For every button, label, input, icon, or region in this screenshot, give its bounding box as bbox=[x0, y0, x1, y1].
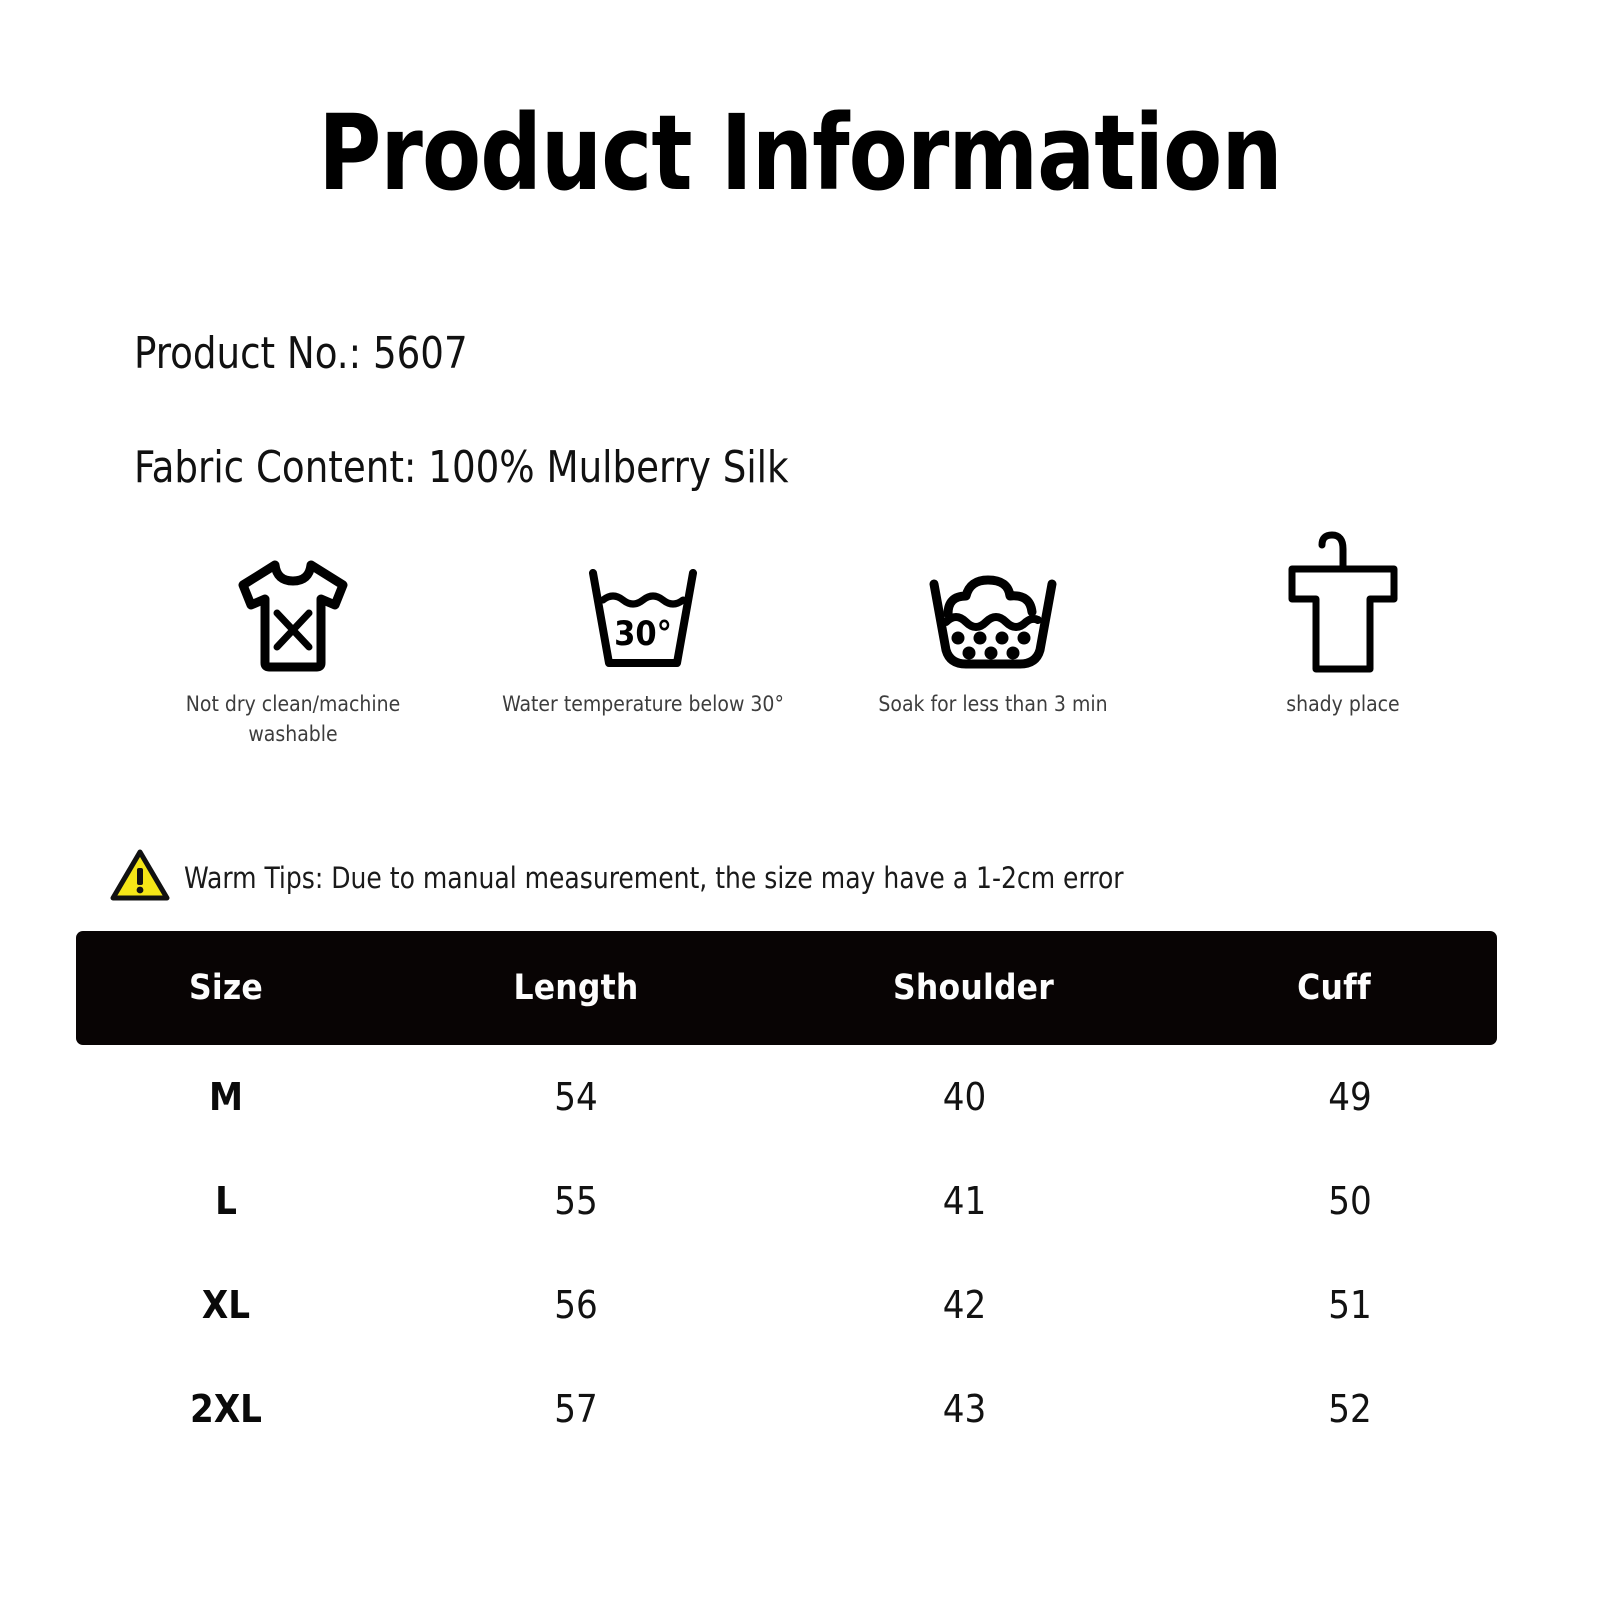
cell-size: 2XL bbox=[76, 1387, 376, 1431]
product-number-line: Product No.: 5607 bbox=[134, 328, 468, 379]
care-label: Not dry clean/machine washable bbox=[143, 689, 443, 750]
cell-size: L bbox=[76, 1179, 376, 1223]
fabric-content-line: Fabric Content: 100% Mulberry Silk bbox=[134, 442, 789, 493]
page-title: Product Information bbox=[64, 92, 1536, 214]
cell-length: 56 bbox=[376, 1283, 776, 1327]
cell-length: 54 bbox=[376, 1075, 776, 1119]
svg-text:30°: 30° bbox=[614, 614, 672, 654]
column-header-shoulder: Shoulder bbox=[776, 968, 1171, 1008]
wash-tub-30-degree-icon: 30° bbox=[579, 540, 707, 675]
column-header-cuff: Cuff bbox=[1171, 968, 1497, 1008]
care-item-soak: Soak for less than 3 min bbox=[818, 540, 1168, 719]
care-instruction-row: Not dry clean/machine washable 30° Water… bbox=[118, 540, 1518, 790]
cell-cuff: 50 bbox=[1187, 1179, 1513, 1223]
cell-shoulder: 41 bbox=[767, 1179, 1162, 1223]
size-table: Size Length Shoulder Cuff M 54 40 49 L 5… bbox=[76, 931, 1497, 1461]
cell-cuff: 49 bbox=[1187, 1075, 1513, 1119]
table-row: M 54 40 49 bbox=[76, 1045, 1497, 1149]
care-label: Soak for less than 3 min bbox=[843, 689, 1143, 719]
product-information-page: Product Information Product No.: 5607 Fa… bbox=[0, 0, 1600, 1600]
tshirt-no-wash-icon bbox=[229, 540, 357, 675]
warning-triangle-icon bbox=[110, 848, 170, 907]
care-item-no-dry-clean: Not dry clean/machine washable bbox=[118, 540, 468, 750]
cell-length: 55 bbox=[376, 1179, 776, 1223]
cell-size: XL bbox=[76, 1283, 376, 1327]
cell-cuff: 51 bbox=[1187, 1283, 1513, 1327]
column-header-length: Length bbox=[376, 968, 776, 1008]
warm-tips-row: Warm Tips: Due to manual measurement, th… bbox=[110, 848, 1163, 907]
warm-tips-text: Warm Tips: Due to manual measurement, th… bbox=[184, 861, 1124, 895]
care-item-shady-place: shady place bbox=[1168, 540, 1518, 719]
cell-size: M bbox=[76, 1075, 376, 1119]
care-item-water-temp: 30° Water temperature below 30° bbox=[468, 540, 818, 719]
soak-basin-icon bbox=[922, 540, 1064, 675]
table-row: 2XL 57 43 52 bbox=[76, 1357, 1497, 1461]
cell-length: 57 bbox=[376, 1387, 776, 1431]
column-header-size: Size bbox=[76, 968, 376, 1008]
size-table-header: Size Length Shoulder Cuff bbox=[76, 931, 1497, 1045]
cell-shoulder: 43 bbox=[767, 1387, 1162, 1431]
cell-cuff: 52 bbox=[1187, 1387, 1513, 1431]
table-row: XL 56 42 51 bbox=[76, 1253, 1497, 1357]
care-label: shady place bbox=[1193, 689, 1493, 719]
table-row: L 55 41 50 bbox=[76, 1149, 1497, 1253]
care-label: Water temperature below 30° bbox=[493, 689, 793, 719]
cell-shoulder: 40 bbox=[767, 1075, 1162, 1119]
cell-shoulder: 42 bbox=[767, 1283, 1162, 1327]
hanger-shirt-icon bbox=[1282, 540, 1404, 675]
